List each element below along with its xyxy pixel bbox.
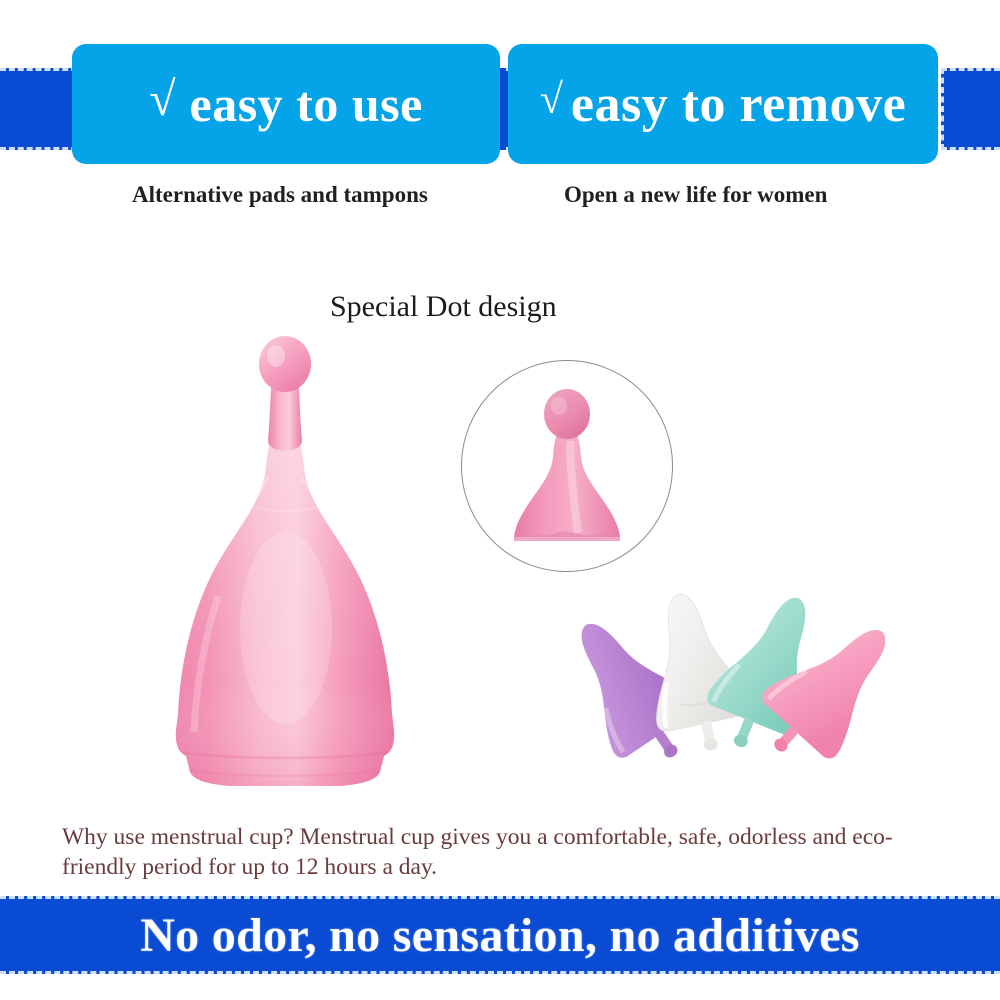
pink-menstrual-cup-image [160,328,410,790]
why-use-paragraph: Why use menstrual cup? Menstrual cup giv… [62,822,952,882]
feature-badge-label: easy to use [190,75,423,133]
bottom-slogan-banner: No odor, no sensation, no additives [0,896,1000,974]
feature-caption-right: Open a new life for women [564,182,827,208]
feature-badge-easy-to-use: √ easy to use [72,44,500,164]
feature-badge-label: easy to remove [571,75,906,134]
feature-badge-easy-to-remove: √ easy to remove [508,44,938,164]
stem-closeup-circle [461,360,673,572]
ribbon-band-right [941,68,1000,150]
section-heading-special-dot-design: Special Dot design [330,290,557,324]
bottom-slogan-text: No odor, no sensation, no additives [140,908,860,963]
product-infographic: √ easy to use √ easy to remove Alternati… [0,0,1000,1000]
feature-caption-left: Alternative pads and tampons [132,182,428,208]
check-radical-icon: √ [149,76,175,124]
check-radical-icon: √ [540,79,563,121]
four-color-cup-group [575,580,885,775]
